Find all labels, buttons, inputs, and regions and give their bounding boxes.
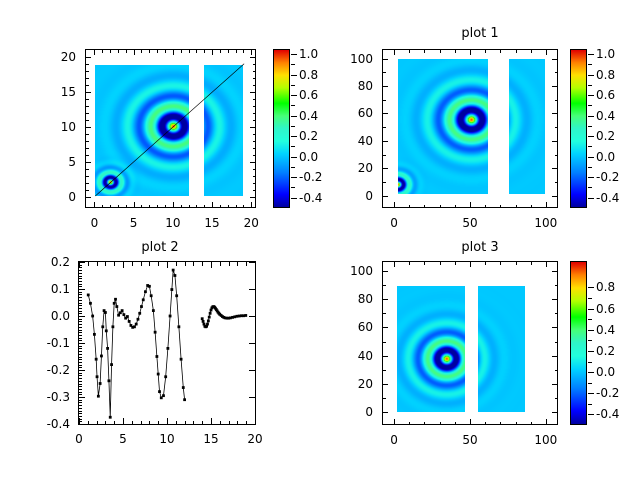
colorbar-tick-label: 0.8: [299, 69, 318, 81]
x-tick: [181, 205, 182, 209]
data-point-marker: [108, 379, 111, 382]
y-tick-right: [253, 113, 257, 114]
x-tick-top: [193, 262, 194, 266]
y-tick: [382, 113, 388, 114]
colorbar-tick-label: 0.6: [596, 303, 615, 315]
y-tick: [79, 394, 82, 395]
colorbar-minor-tick: [588, 105, 592, 106]
line-segment: [87, 269, 186, 419]
data-point-marker: [89, 302, 92, 305]
colorbar-tick: [291, 198, 297, 199]
x-tick-top: [158, 262, 159, 266]
x-tick: [531, 205, 532, 209]
y-tick: [85, 127, 91, 128]
heatmap-patch: [398, 59, 488, 194]
panel-title-1: plot 1: [320, 27, 640, 41]
y-tick: [79, 386, 82, 387]
y-tick: [85, 176, 89, 177]
y-tick-right: [555, 342, 559, 343]
panel-title-3: plot 3: [320, 241, 640, 255]
y-tick: [382, 168, 388, 169]
y-tick: [79, 267, 82, 268]
colorbar-tick-label: -0.4: [299, 192, 322, 204]
y-tick: [79, 292, 82, 293]
x-tick: [132, 421, 133, 425]
data-point-marker: [155, 355, 158, 358]
y-tick: [79, 316, 85, 317]
x-tick-top: [165, 49, 166, 53]
y-tick: [79, 362, 82, 363]
panel-top-right: plot 1 050100020406080100 1.00.80.60.40.…: [320, 0, 640, 240]
colorbar-minor-tick: [291, 85, 295, 86]
y-tick: [382, 86, 388, 87]
y-tick: [85, 64, 89, 65]
x-tick: [546, 202, 547, 208]
data-point-marker: [93, 333, 96, 336]
data-point-marker: [154, 331, 157, 334]
x-tick-label: 50: [462, 434, 477, 446]
x-tick: [531, 422, 532, 426]
colorbar-tick: [588, 351, 594, 352]
x-tick-top: [134, 49, 135, 55]
y-tick-label: 15: [0, 86, 76, 98]
colorbar-minor-tick: [291, 105, 295, 106]
x-tick: [409, 422, 410, 426]
x-tick-top: [251, 49, 252, 55]
x-tick: [212, 202, 213, 208]
y-tick-right: [552, 86, 558, 87]
overlay-diagonal-line: [86, 50, 255, 207]
panel-bottom-left: plot 2 051015200.20.10.0-0.1-0.2-0.3-0.4: [0, 240, 320, 480]
y-tick: [79, 338, 82, 339]
x-tick-label: 15: [204, 217, 219, 229]
data-point-marker: [144, 290, 147, 293]
data-point-marker: [207, 319, 210, 322]
y-tick-label: 0: [0, 191, 76, 203]
y-tick-right: [249, 262, 255, 263]
y-tick-right: [253, 99, 257, 100]
y-tick: [85, 106, 89, 107]
y-tick: [79, 332, 82, 333]
data-point-marker: [202, 320, 205, 323]
y-tick-right: [253, 155, 257, 156]
y-tick: [79, 335, 82, 336]
x-tick-top: [212, 49, 213, 55]
data-point-marker: [104, 311, 107, 314]
y-tick: [79, 416, 82, 417]
colorbar-minor-tick: [588, 298, 592, 299]
colorbar-tick-label: 0.2: [596, 345, 615, 357]
x-tick: [134, 202, 135, 208]
colorbar-top-right: [570, 49, 587, 208]
y-tick: [79, 311, 82, 312]
y-tick-right: [552, 59, 558, 60]
y-tick: [85, 148, 89, 149]
x-tick-top: [236, 49, 237, 53]
colorbar-tick: [588, 330, 594, 331]
y-tick: [79, 343, 85, 344]
colorbar-tick-label: -0.2: [596, 387, 619, 399]
colorbar-tick: [588, 157, 594, 158]
data-point-marker: [182, 386, 185, 389]
x-tick: [251, 202, 252, 208]
y-tick: [79, 284, 82, 285]
y-tick-label: 60: [320, 321, 373, 333]
x-tick-top: [394, 49, 395, 55]
y-tick-right: [249, 424, 255, 425]
x-tick: [455, 205, 456, 209]
y-tick-right: [253, 64, 257, 65]
y-tick: [382, 313, 386, 314]
colorbar-tick-label: 0.6: [596, 89, 615, 101]
y-tick-right: [552, 356, 558, 357]
y-tick-right: [552, 113, 558, 114]
y-tick: [79, 375, 82, 376]
x-tick-label: 20: [244, 217, 259, 229]
data-point-marker: [100, 355, 103, 358]
heatmap-patch: [397, 286, 465, 412]
y-tick: [85, 155, 89, 156]
x-tick-top: [202, 262, 203, 266]
x-tick: [516, 422, 517, 426]
y-tick: [79, 262, 85, 263]
data-point-marker: [170, 288, 173, 291]
colorbar-minor-tick: [291, 146, 295, 147]
y-tick: [79, 370, 85, 371]
y-tick-right: [555, 127, 559, 128]
y-tick: [79, 421, 82, 422]
x-tick: [440, 422, 441, 426]
y-tick: [382, 127, 386, 128]
data-point-marker: [115, 305, 118, 308]
y-tick: [79, 419, 82, 420]
y-tick-label: 0: [320, 406, 373, 418]
y-tick: [79, 330, 82, 331]
x-tick: [189, 205, 190, 209]
data-point-marker: [133, 325, 136, 328]
y-tick: [79, 289, 85, 290]
x-tick: [158, 421, 159, 425]
colorbar-tick: [291, 54, 297, 55]
y-tick-label: -0.1: [0, 337, 70, 349]
colorbar-minor-tick: [588, 85, 592, 86]
data-point-marker: [91, 315, 94, 318]
x-tick-top: [132, 262, 133, 266]
axes-top-left: [85, 49, 256, 208]
x-tick-top: [220, 262, 221, 266]
data-point-marker: [126, 315, 129, 318]
x-tick: [126, 205, 127, 209]
x-tick-top: [246, 262, 247, 266]
y-tick: [79, 313, 82, 314]
y-tick-right: [250, 92, 256, 93]
x-tick: [485, 205, 486, 209]
heatmap-patch: [478, 286, 525, 412]
y-tick: [79, 324, 82, 325]
y-tick: [85, 134, 89, 135]
figure-canvas: 0510152005101520 1.00.80.60.40.20.0-0.2-…: [0, 0, 640, 480]
x-tick: [220, 421, 221, 425]
x-tick: [500, 205, 501, 209]
colorbar-tick-label: 0.8: [596, 281, 615, 293]
y-tick-right: [253, 183, 257, 184]
y-tick-label: 80: [320, 293, 373, 305]
y-tick: [382, 155, 386, 156]
data-point-marker: [95, 358, 98, 361]
colorbar-minor-tick: [588, 146, 592, 147]
axes-top-right: [382, 49, 558, 208]
panel-title-2: plot 2: [0, 241, 320, 255]
y-tick-right: [555, 72, 559, 73]
y-tick: [79, 346, 82, 347]
x-tick-top: [123, 262, 124, 268]
data-point-marker: [128, 320, 131, 323]
y-tick: [79, 305, 82, 306]
x-tick-label: 0: [75, 433, 83, 445]
x-tick-top: [243, 49, 244, 53]
axes-bottom-right: [382, 261, 558, 425]
x-tick-top: [97, 262, 98, 266]
x-tick-top: [440, 261, 441, 265]
data-point-marker: [140, 305, 143, 308]
y-tick: [85, 169, 89, 170]
colorbar-tick-label: 0.2: [596, 130, 615, 142]
colorbar-tick-label: -0.4: [596, 192, 619, 204]
colorbar-minor-tick: [291, 167, 295, 168]
y-tick: [85, 85, 89, 86]
data-point-marker: [162, 394, 165, 397]
x-tick-top: [157, 49, 158, 53]
y-tick: [79, 273, 82, 274]
y-tick: [85, 113, 89, 114]
x-tick: [546, 419, 547, 425]
y-tick-right: [253, 134, 257, 135]
x-tick: [165, 205, 166, 209]
x-tick-top: [220, 49, 221, 53]
x-tick-top: [424, 49, 425, 53]
x-tick-top: [470, 261, 471, 267]
x-tick: [455, 422, 456, 426]
y-tick-right: [249, 397, 255, 398]
y-tick: [85, 92, 91, 93]
x-tick-top: [546, 261, 547, 267]
y-tick: [85, 120, 89, 121]
colorbar-tick: [588, 198, 594, 199]
y-tick: [79, 351, 82, 352]
data-point-marker: [152, 309, 155, 312]
data-point-marker: [174, 274, 177, 277]
data-point-marker: [244, 314, 247, 317]
y-tick: [79, 389, 82, 390]
x-tick: [500, 422, 501, 426]
y-tick-right: [249, 370, 255, 371]
data-point-marker: [201, 317, 204, 320]
y-tick: [382, 327, 388, 328]
x-tick-top: [516, 261, 517, 265]
y-tick-right: [253, 120, 257, 121]
colorbar-minor-tick: [588, 340, 592, 341]
y-tick-right: [253, 190, 257, 191]
y-tick-right: [555, 155, 559, 156]
y-tick: [382, 196, 388, 197]
colorbar-minor-tick: [588, 383, 592, 384]
colorbar-tick-label: 0.2: [299, 130, 318, 142]
y-tick-label: 20: [320, 378, 373, 390]
y-tick: [79, 270, 82, 271]
colorbar-tick-label: -0.2: [299, 171, 322, 183]
data-point-marker: [97, 395, 100, 398]
colorbar-minor-tick: [588, 126, 592, 127]
y-tick: [79, 297, 82, 298]
data-point-marker: [138, 312, 141, 315]
x-tick: [157, 205, 158, 209]
colorbar-minor-tick: [588, 319, 592, 320]
data-point-marker: [208, 316, 211, 319]
y-tick-right: [552, 384, 558, 385]
x-tick: [220, 205, 221, 209]
colorbar-tick: [291, 157, 297, 158]
y-tick: [382, 398, 386, 399]
x-tick: [246, 421, 247, 425]
y-tick: [382, 59, 388, 60]
y-tick-label: 40: [320, 135, 373, 147]
colorbar-minor-tick: [291, 126, 295, 127]
colorbar-tick: [588, 177, 594, 178]
y-tick-label: 5: [0, 156, 76, 168]
y-tick-right: [249, 343, 255, 344]
x-tick: [185, 421, 186, 425]
y-tick: [79, 411, 82, 412]
colorbar-tick: [588, 95, 594, 96]
data-point-marker: [164, 375, 167, 378]
y-tick-label: 20: [320, 162, 373, 174]
y-tick-label: 0.1: [0, 283, 70, 295]
colorbar-minor-tick: [291, 64, 295, 65]
colorbar-tick: [588, 309, 594, 310]
x-tick-top: [126, 49, 127, 53]
y-tick-right: [250, 127, 256, 128]
colorbar-tick-label: 0.8: [596, 69, 615, 81]
x-tick: [173, 202, 174, 208]
x-tick-top: [149, 262, 150, 266]
y-tick: [382, 100, 386, 101]
colorbar-tick-label: 0.0: [596, 151, 615, 163]
data-point-marker: [177, 325, 180, 328]
x-tick-top: [500, 261, 501, 265]
data-point-marker: [169, 315, 172, 318]
x-tick-top: [185, 262, 186, 266]
x-tick-label: 5: [119, 433, 127, 445]
colorbar-tick: [588, 54, 594, 55]
y-tick-right: [552, 271, 558, 272]
y-tick: [79, 365, 82, 366]
colorbar-minor-tick: [588, 187, 592, 188]
data-point-marker: [105, 329, 108, 332]
data-point-marker: [96, 375, 99, 378]
x-tick: [236, 205, 237, 209]
x-tick-label: 5: [130, 217, 138, 229]
y-tick-right: [253, 71, 257, 72]
data-point-marker: [157, 373, 160, 376]
colorbar-tick: [291, 177, 297, 178]
y-tick: [79, 405, 82, 406]
x-tick: [105, 421, 106, 425]
x-tick-top: [424, 261, 425, 265]
colorbar-tick: [588, 116, 594, 117]
x-tick-top: [485, 261, 486, 265]
x-tick-top: [500, 49, 501, 53]
x-tick-top: [455, 49, 456, 53]
panel-bottom-right: plot 3 050100020406080100 0.80.60.40.20.…: [320, 240, 640, 480]
y-tick: [79, 340, 82, 341]
x-tick: [102, 205, 103, 209]
x-tick-label: 15: [203, 433, 218, 445]
colorbar-tick-label: -0.2: [596, 171, 619, 183]
y-tick: [382, 299, 388, 300]
y-tick: [382, 182, 386, 183]
y-tick-right: [253, 148, 257, 149]
y-tick-right: [253, 106, 257, 107]
x-tick-top: [88, 262, 89, 266]
y-tick-label: 80: [320, 80, 373, 92]
y-tick: [382, 285, 386, 286]
x-tick-top: [105, 262, 106, 266]
y-tick-label: 0: [320, 190, 373, 202]
x-tick-top: [516, 49, 517, 53]
y-tick: [79, 384, 82, 385]
y-tick: [85, 162, 91, 163]
x-tick: [110, 205, 111, 209]
x-tick-top: [118, 49, 119, 53]
data-point-marker: [150, 294, 153, 297]
x-tick: [485, 422, 486, 426]
y-tick-label: 20: [0, 51, 76, 63]
y-tick-right: [250, 162, 256, 163]
x-tick-top: [440, 49, 441, 53]
data-point-marker: [135, 323, 138, 326]
y-tick-right: [552, 196, 558, 197]
x-tick-label: 100: [534, 434, 557, 446]
y-tick: [79, 286, 82, 287]
y-tick-right: [555, 370, 559, 371]
colorbar-minor-tick: [588, 167, 592, 168]
x-tick-top: [409, 49, 410, 53]
colorbar-tick-label: 1.0: [299, 48, 318, 60]
y-tick: [85, 71, 89, 72]
colorbar-bottom-right: [570, 261, 587, 425]
data-point-marker: [206, 323, 209, 326]
x-tick: [424, 205, 425, 209]
heatmap-patch: [509, 59, 545, 194]
y-tick: [382, 342, 386, 343]
x-tick-top: [546, 49, 547, 55]
x-tick-top: [141, 49, 142, 53]
y-tick-right: [249, 316, 255, 317]
x-tick-top: [167, 262, 168, 268]
x-tick: [255, 418, 256, 424]
y-tick-right: [555, 182, 559, 183]
x-tick: [394, 202, 395, 208]
y-tick-right: [253, 141, 257, 142]
colorbar-tick-label: 1.0: [596, 48, 615, 60]
data-point-marker: [183, 398, 186, 401]
y-tick: [85, 197, 91, 198]
x-tick: [204, 205, 205, 209]
y-tick: [79, 265, 82, 266]
x-tick: [229, 421, 230, 425]
colorbar-tick: [588, 136, 594, 137]
colorbar-minor-tick: [588, 404, 592, 405]
